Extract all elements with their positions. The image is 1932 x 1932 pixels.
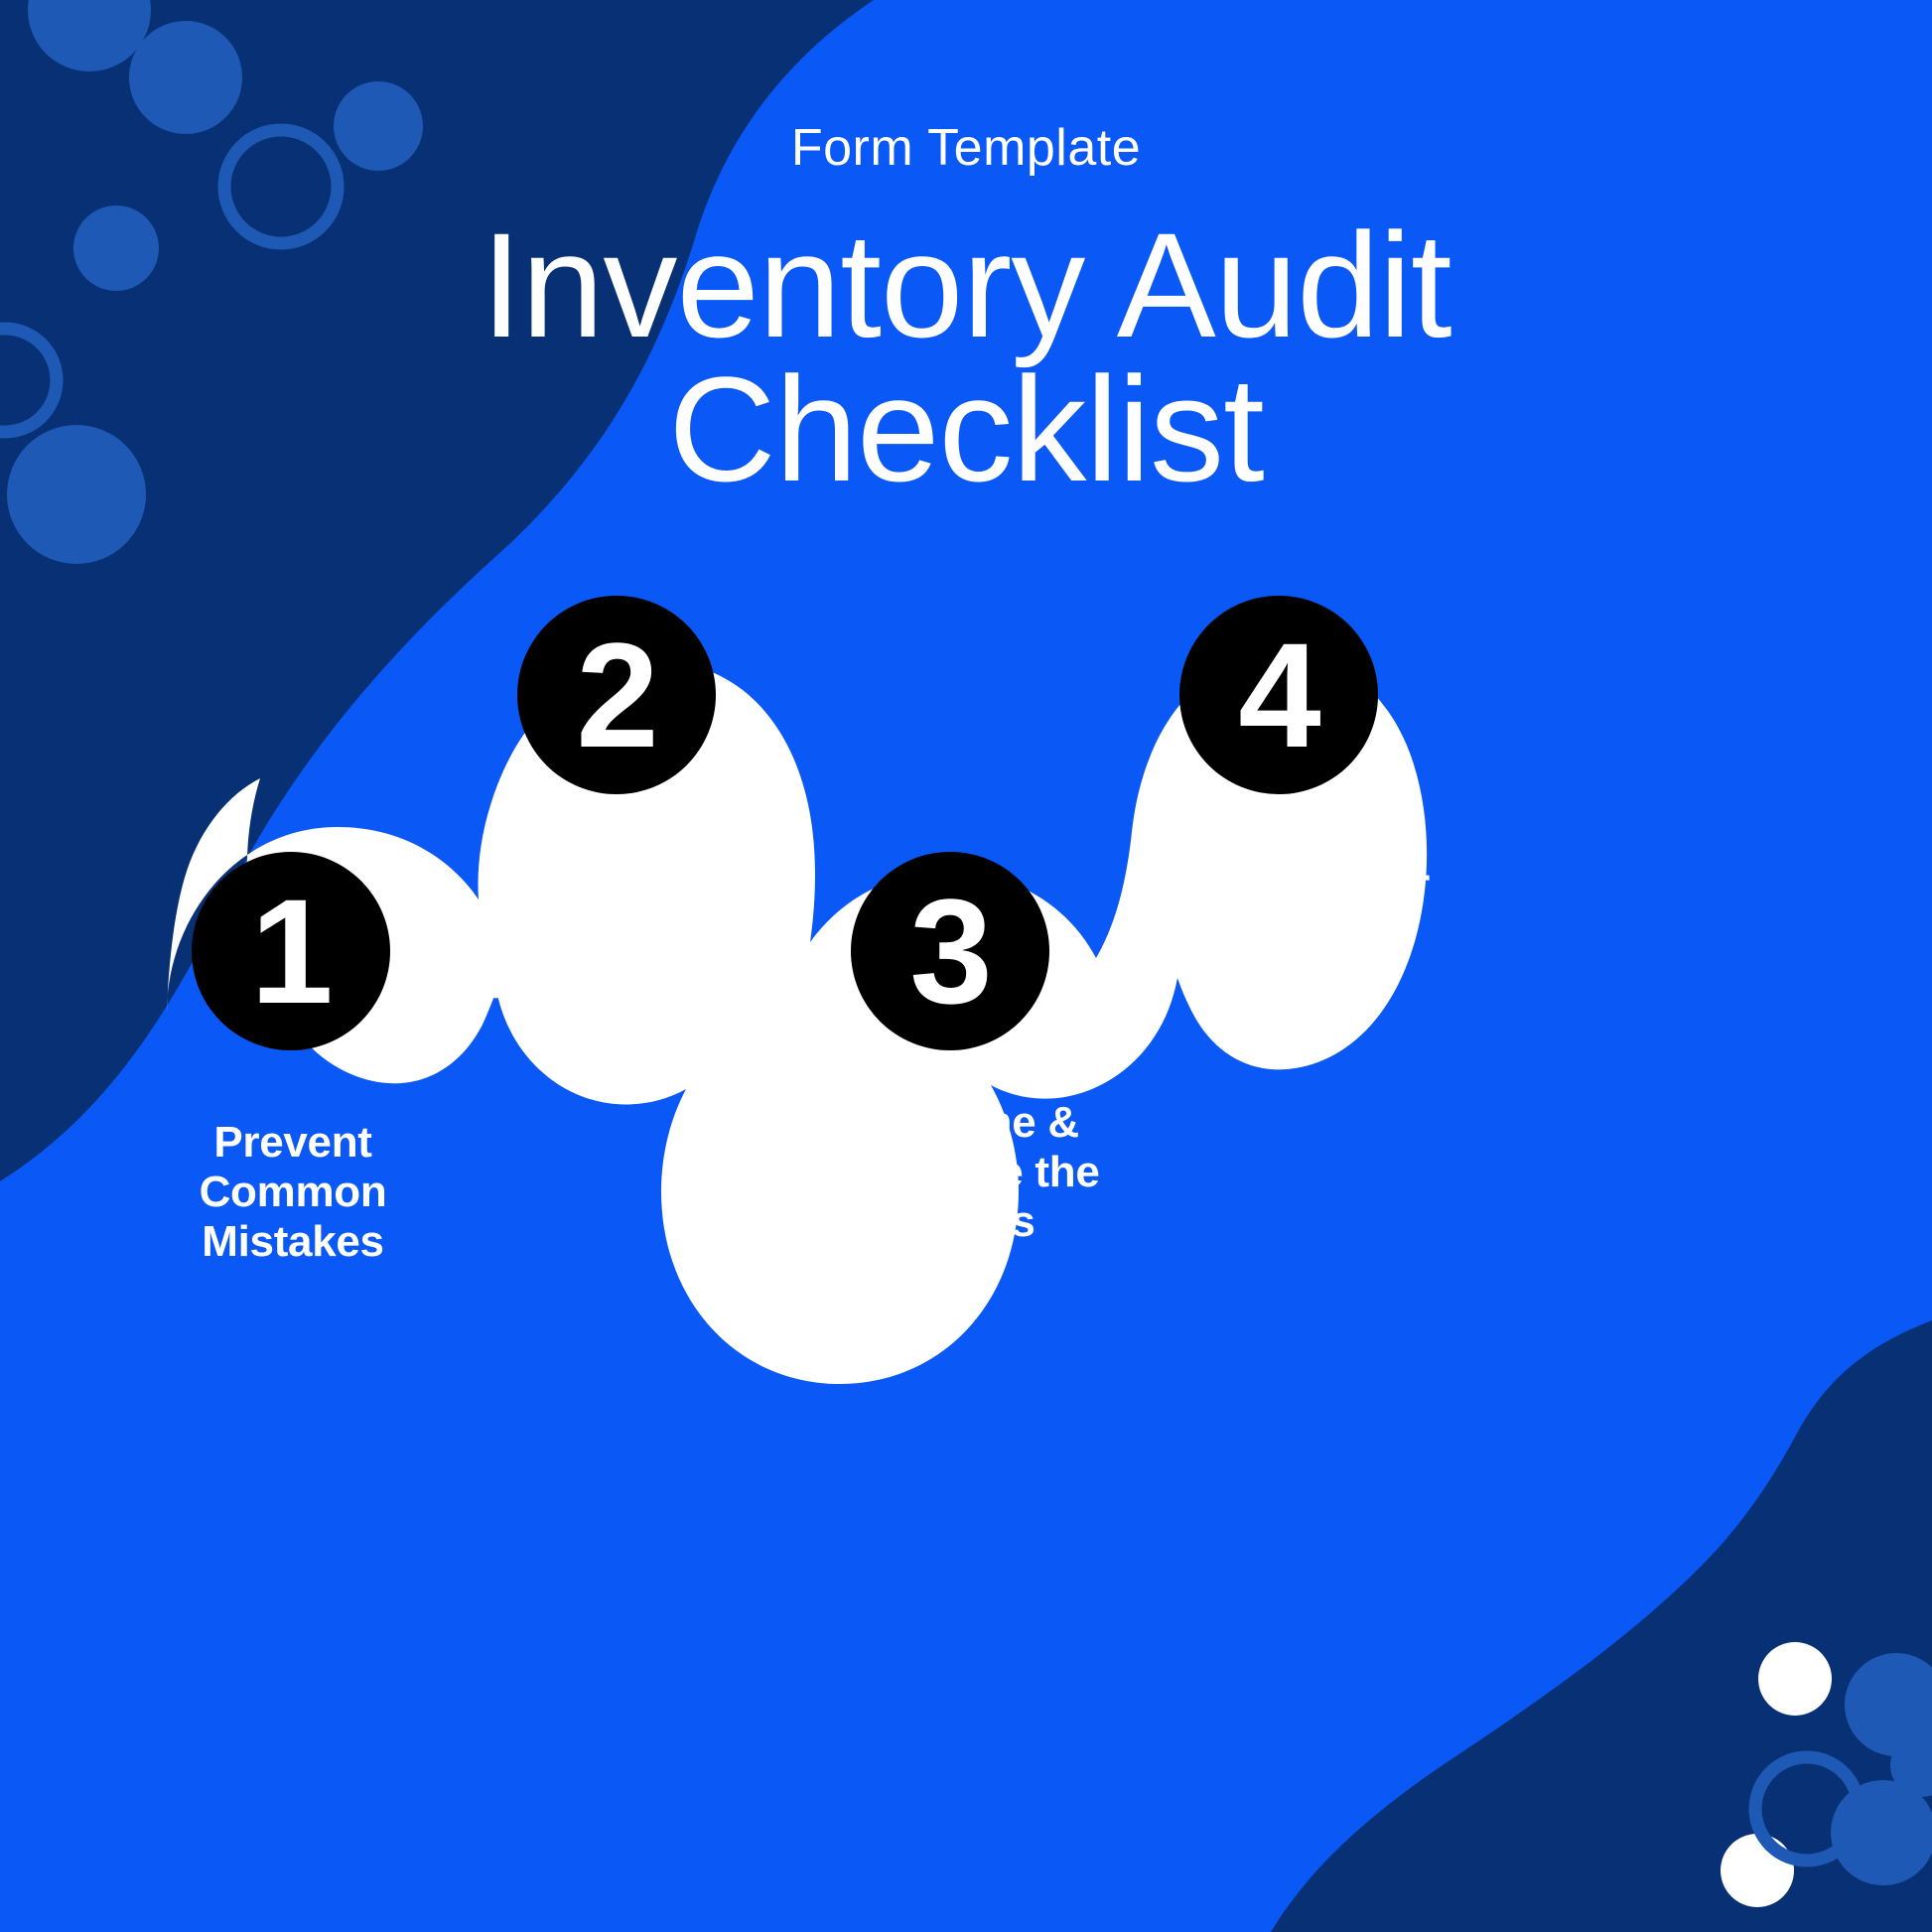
step-label-3: Save Time & Streamline the Process	[782, 1098, 1120, 1247]
step-node-1[interactable]: 1	[192, 852, 390, 1050]
step-number-4: 4	[1238, 621, 1318, 769]
infographic-poster: Form Template Inventory Audit Checklist …	[0, 0, 1932, 1932]
step-label-1: Prevent Common Mistakes	[124, 1118, 462, 1267]
step-label-2: Improve Accuracy & Accountability	[449, 860, 786, 1009]
poster-header: Form Template Inventory Audit Checklist	[0, 0, 1932, 502]
step-node-4[interactable]: 4	[1179, 596, 1378, 794]
eyebrow-label: Form Template	[0, 121, 1932, 176]
page-title: Inventory Audit Checklist	[0, 213, 1932, 502]
step-node-3[interactable]: 3	[851, 852, 1049, 1050]
title-line-2: Checklist	[258, 357, 1674, 502]
title-line-1: Inventory Audit	[258, 213, 1674, 358]
step-label-4: Support Better Inventory Control	[1110, 860, 1448, 1009]
step-number-2: 2	[576, 621, 656, 769]
step-number-1: 1	[250, 877, 331, 1026]
step-node-2[interactable]: 2	[517, 596, 716, 794]
step-number-3: 3	[909, 877, 990, 1026]
